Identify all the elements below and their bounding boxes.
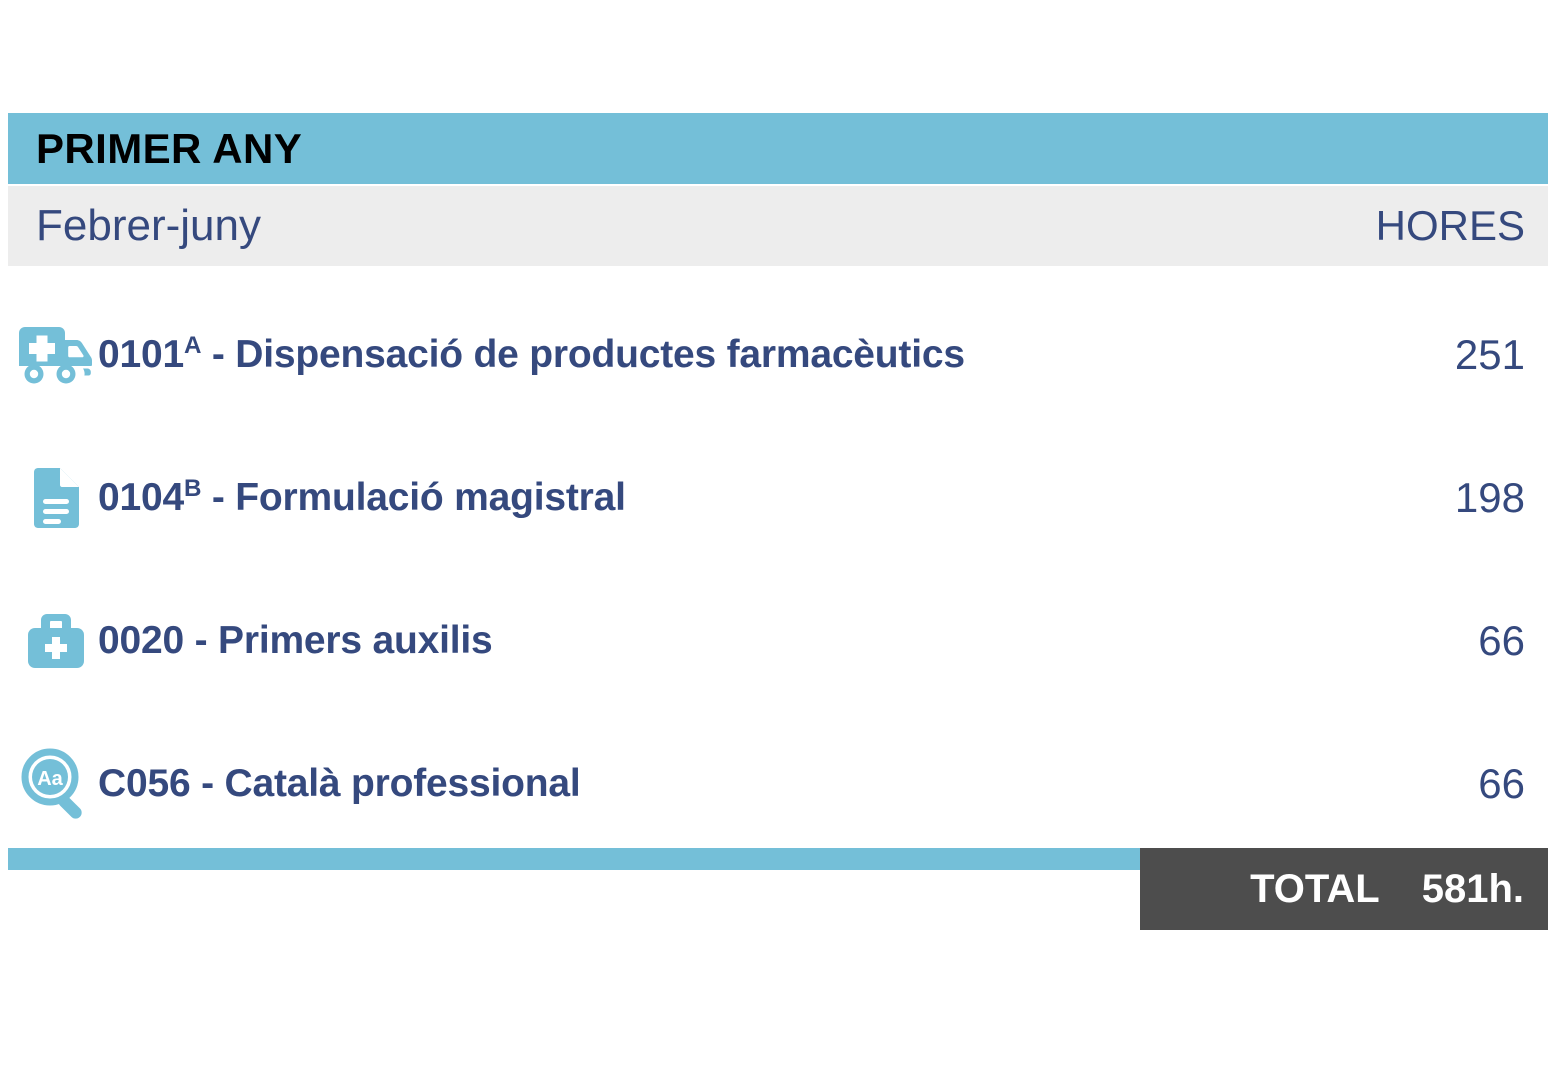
- hours-column-header: HORES: [1376, 205, 1525, 247]
- svg-text:Aa: Aa: [37, 768, 63, 790]
- footer-accent-bar: [8, 848, 1140, 870]
- first-aid-kit-icon: [14, 605, 98, 677]
- total-label: TOTAL: [1250, 869, 1380, 909]
- total-value: 581h.: [1422, 869, 1524, 909]
- list-item[interactable]: Aa C056 - Català professional 66: [8, 712, 1548, 855]
- list-item[interactable]: 0104B - Formulació magistral 198: [8, 426, 1548, 569]
- module-code: 0104: [98, 476, 184, 519]
- module-name: Català professional: [225, 762, 581, 805]
- magnifier-aa-icon: Aa: [14, 748, 98, 820]
- module-separator: -: [190, 762, 224, 805]
- module-separator: -: [201, 476, 235, 519]
- page-title: PRIMER ANY: [36, 128, 302, 170]
- list-item[interactable]: 0020 - Primers auxilis 66: [8, 569, 1548, 712]
- module-name: Primers auxilis: [218, 619, 493, 662]
- document-icon: [14, 462, 98, 534]
- module-code: C056: [98, 762, 190, 805]
- module-separator: -: [184, 619, 218, 662]
- period-label: Febrer-juny: [36, 204, 261, 248]
- module-code: 0020: [98, 619, 184, 662]
- module-name: Formulació magistral: [235, 476, 625, 519]
- year-title-band: PRIMER ANY: [8, 113, 1548, 184]
- module-code: 0101: [98, 333, 184, 376]
- total-box: TOTAL 581h.: [1140, 848, 1548, 930]
- course-hours-table: PRIMER ANY Febrer-juny HORES: [0, 0, 1556, 1076]
- module-hours: 198: [1385, 477, 1525, 519]
- module-hours: 66: [1385, 620, 1525, 662]
- period-header-band: Febrer-juny HORES: [8, 186, 1548, 266]
- module-code-superscript: A: [184, 332, 201, 359]
- module-separator: -: [201, 333, 235, 376]
- module-name: Dispensació de productes farmacèutics: [235, 333, 965, 376]
- module-list: 0101A - Dispensació de productes farmacè…: [8, 283, 1548, 855]
- list-item[interactable]: 0101A - Dispensació de productes farmacè…: [8, 283, 1548, 426]
- module-label: 0101A - Dispensació de productes farmacè…: [98, 335, 1385, 374]
- module-code-superscript: B: [184, 475, 201, 502]
- module-label: C056 - Català professional: [98, 764, 1385, 803]
- ambulance-icon: [14, 319, 98, 391]
- module-label: 0020 - Primers auxilis: [98, 621, 1385, 660]
- module-hours: 66: [1385, 763, 1525, 805]
- module-hours: 251: [1385, 334, 1525, 376]
- module-label: 0104B - Formulació magistral: [98, 478, 1385, 517]
